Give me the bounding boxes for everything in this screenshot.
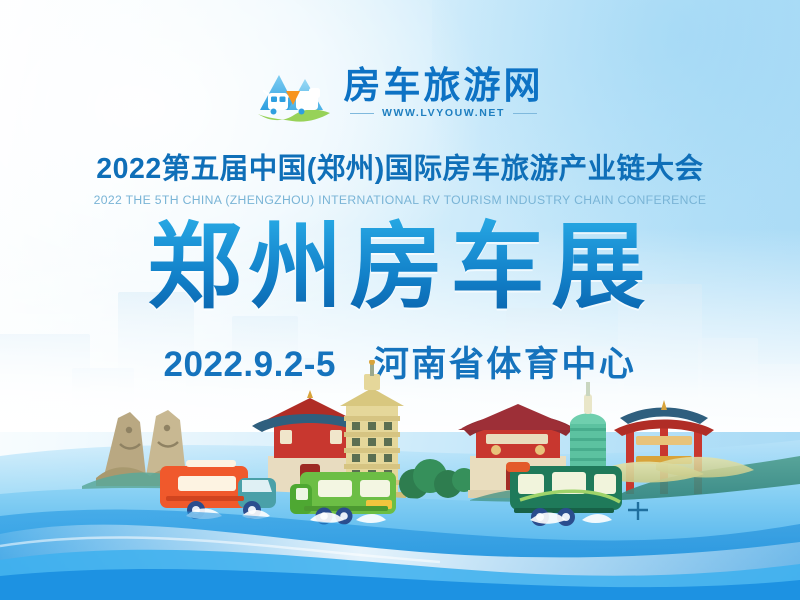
brand-url: WWW.LVYOUW.NET (382, 107, 505, 119)
poster-canvas: 房车旅游网 WWW.LVYOUW.NET 2022第五届中国(郑州)国际房车旅游… (0, 0, 800, 600)
brand-url-row: WWW.LVYOUW.NET (344, 107, 544, 119)
brand-logo-lockup: 房车旅游网 WWW.LVYOUW.NET (0, 62, 800, 124)
rv-mountain-logo-icon (257, 62, 331, 124)
illustration-scene (0, 360, 800, 600)
conference-title-cn: 2022第五届中国(郑州)国际房车旅游产业链大会 (0, 152, 800, 188)
brand-name: 房车旅游网 (344, 67, 544, 104)
event-headline: 郑州房车展 (0, 216, 800, 318)
url-rule-right (513, 113, 537, 114)
url-rule-left (350, 113, 374, 114)
conference-title-en: 2022 THE 5TH CHINA (ZHENGZHOU) INTERNATI… (0, 193, 800, 207)
brand-text-group: 房车旅游网 WWW.LVYOUW.NET (344, 67, 544, 119)
